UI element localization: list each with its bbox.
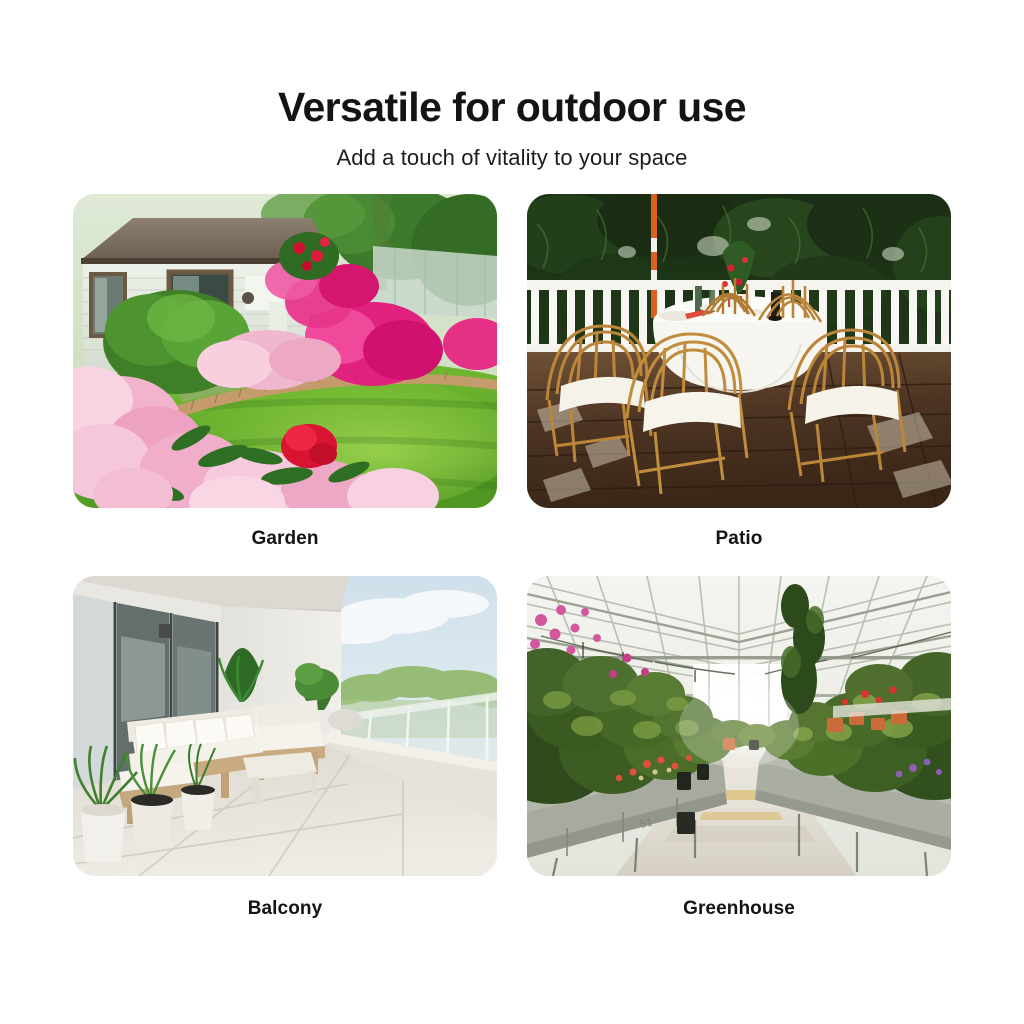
image-grid: Garden xyxy=(73,194,951,920)
garden-photo[interactable] xyxy=(73,194,497,508)
gallery-caption-balcony: Balcony xyxy=(73,898,497,920)
gallery-cell-balcony[interactable]: Balcony xyxy=(73,576,497,920)
gallery-cell-greenhouse[interactable]: 51 xyxy=(527,576,951,920)
marketing-gallery-page: Versatile for outdoor use Add a touch of… xyxy=(0,0,1024,1024)
gallery-caption-greenhouse: Greenhouse xyxy=(527,898,951,920)
svg-text:51: 51 xyxy=(639,817,653,831)
gallery-caption-garden: Garden xyxy=(73,528,497,550)
greenhouse-photo[interactable]: 51 xyxy=(527,576,951,876)
page-subtitle: Add a touch of vitality to your space xyxy=(0,145,1024,171)
patio-photo[interactable] xyxy=(527,194,951,508)
gallery-caption-patio: Patio xyxy=(527,528,951,550)
page-title: Versatile for outdoor use xyxy=(0,86,1024,129)
gallery-cell-patio[interactable]: Patio xyxy=(527,194,951,550)
balcony-photo[interactable] xyxy=(73,576,497,876)
page-header: Versatile for outdoor use Add a touch of… xyxy=(0,86,1024,171)
gallery-cell-garden[interactable]: Garden xyxy=(73,194,497,550)
